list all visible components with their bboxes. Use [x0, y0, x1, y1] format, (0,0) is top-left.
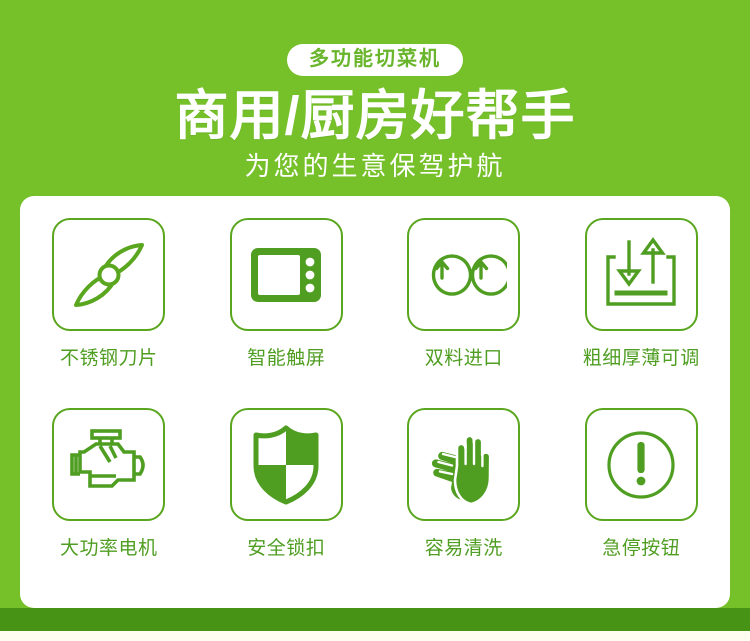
feature-label: 智能触屏 [247, 347, 325, 371]
feature-item: 安全锁扣 [198, 408, 376, 598]
feature-item: 急停按钮 [553, 408, 731, 598]
product-category-badge: 多功能切菜机 [287, 44, 463, 76]
feature-grid: 不锈钢刀片 智能触屏 [20, 218, 730, 598]
feature-label: 大功率电机 [60, 537, 158, 561]
feature-icon-box [230, 408, 343, 521]
feature-item: 大功率电机 [20, 408, 198, 598]
dual-inlet-arrows-icon [421, 232, 507, 318]
feature-label: 安全锁扣 [247, 537, 325, 561]
shield-lock-icon [243, 422, 329, 508]
feature-label: 急停按钮 [602, 537, 680, 561]
feature-item: 粗细厚薄可调 [553, 218, 731, 408]
feature-icon-box [585, 408, 698, 521]
hands-wash-icon [421, 422, 507, 508]
feature-icon-box [407, 218, 520, 331]
page-subtitle: 为您的生意保驾护航 [0, 150, 750, 182]
feature-label: 粗细厚薄可调 [583, 347, 700, 371]
feature-label: 双料进口 [425, 347, 503, 371]
promo-banner: 多功能切菜机 商用/厨房好帮手 为您的生意保驾护航 [0, 0, 750, 641]
banner-header: 多功能切菜机 商用/厨房好帮手 为您的生意保驾护航 [0, 0, 750, 195]
blade-icon [66, 232, 152, 318]
feature-icon-box [52, 408, 165, 521]
page-title: 商用/厨房好帮手 [0, 86, 750, 146]
touchscreen-icon [243, 232, 329, 318]
bottom-cream-strip [0, 631, 750, 641]
thickness-adjust-icon [598, 232, 684, 318]
feature-item: 智能触屏 [198, 218, 376, 408]
feature-icon-box [585, 218, 698, 331]
feature-label: 不锈钢刀片 [60, 347, 158, 371]
bottom-dark-band [0, 608, 750, 631]
motor-engine-icon [66, 422, 152, 508]
feature-item: 双料进口 [375, 218, 553, 408]
feature-item: 容易清洗 [375, 408, 553, 598]
feature-label: 容易清洗 [425, 537, 503, 561]
feature-icon-box [407, 408, 520, 521]
feature-item: 不锈钢刀片 [20, 218, 198, 408]
feature-card: 不锈钢刀片 智能触屏 [20, 196, 730, 608]
feature-icon-box [52, 218, 165, 331]
emergency-stop-icon [598, 422, 684, 508]
feature-icon-box [230, 218, 343, 331]
